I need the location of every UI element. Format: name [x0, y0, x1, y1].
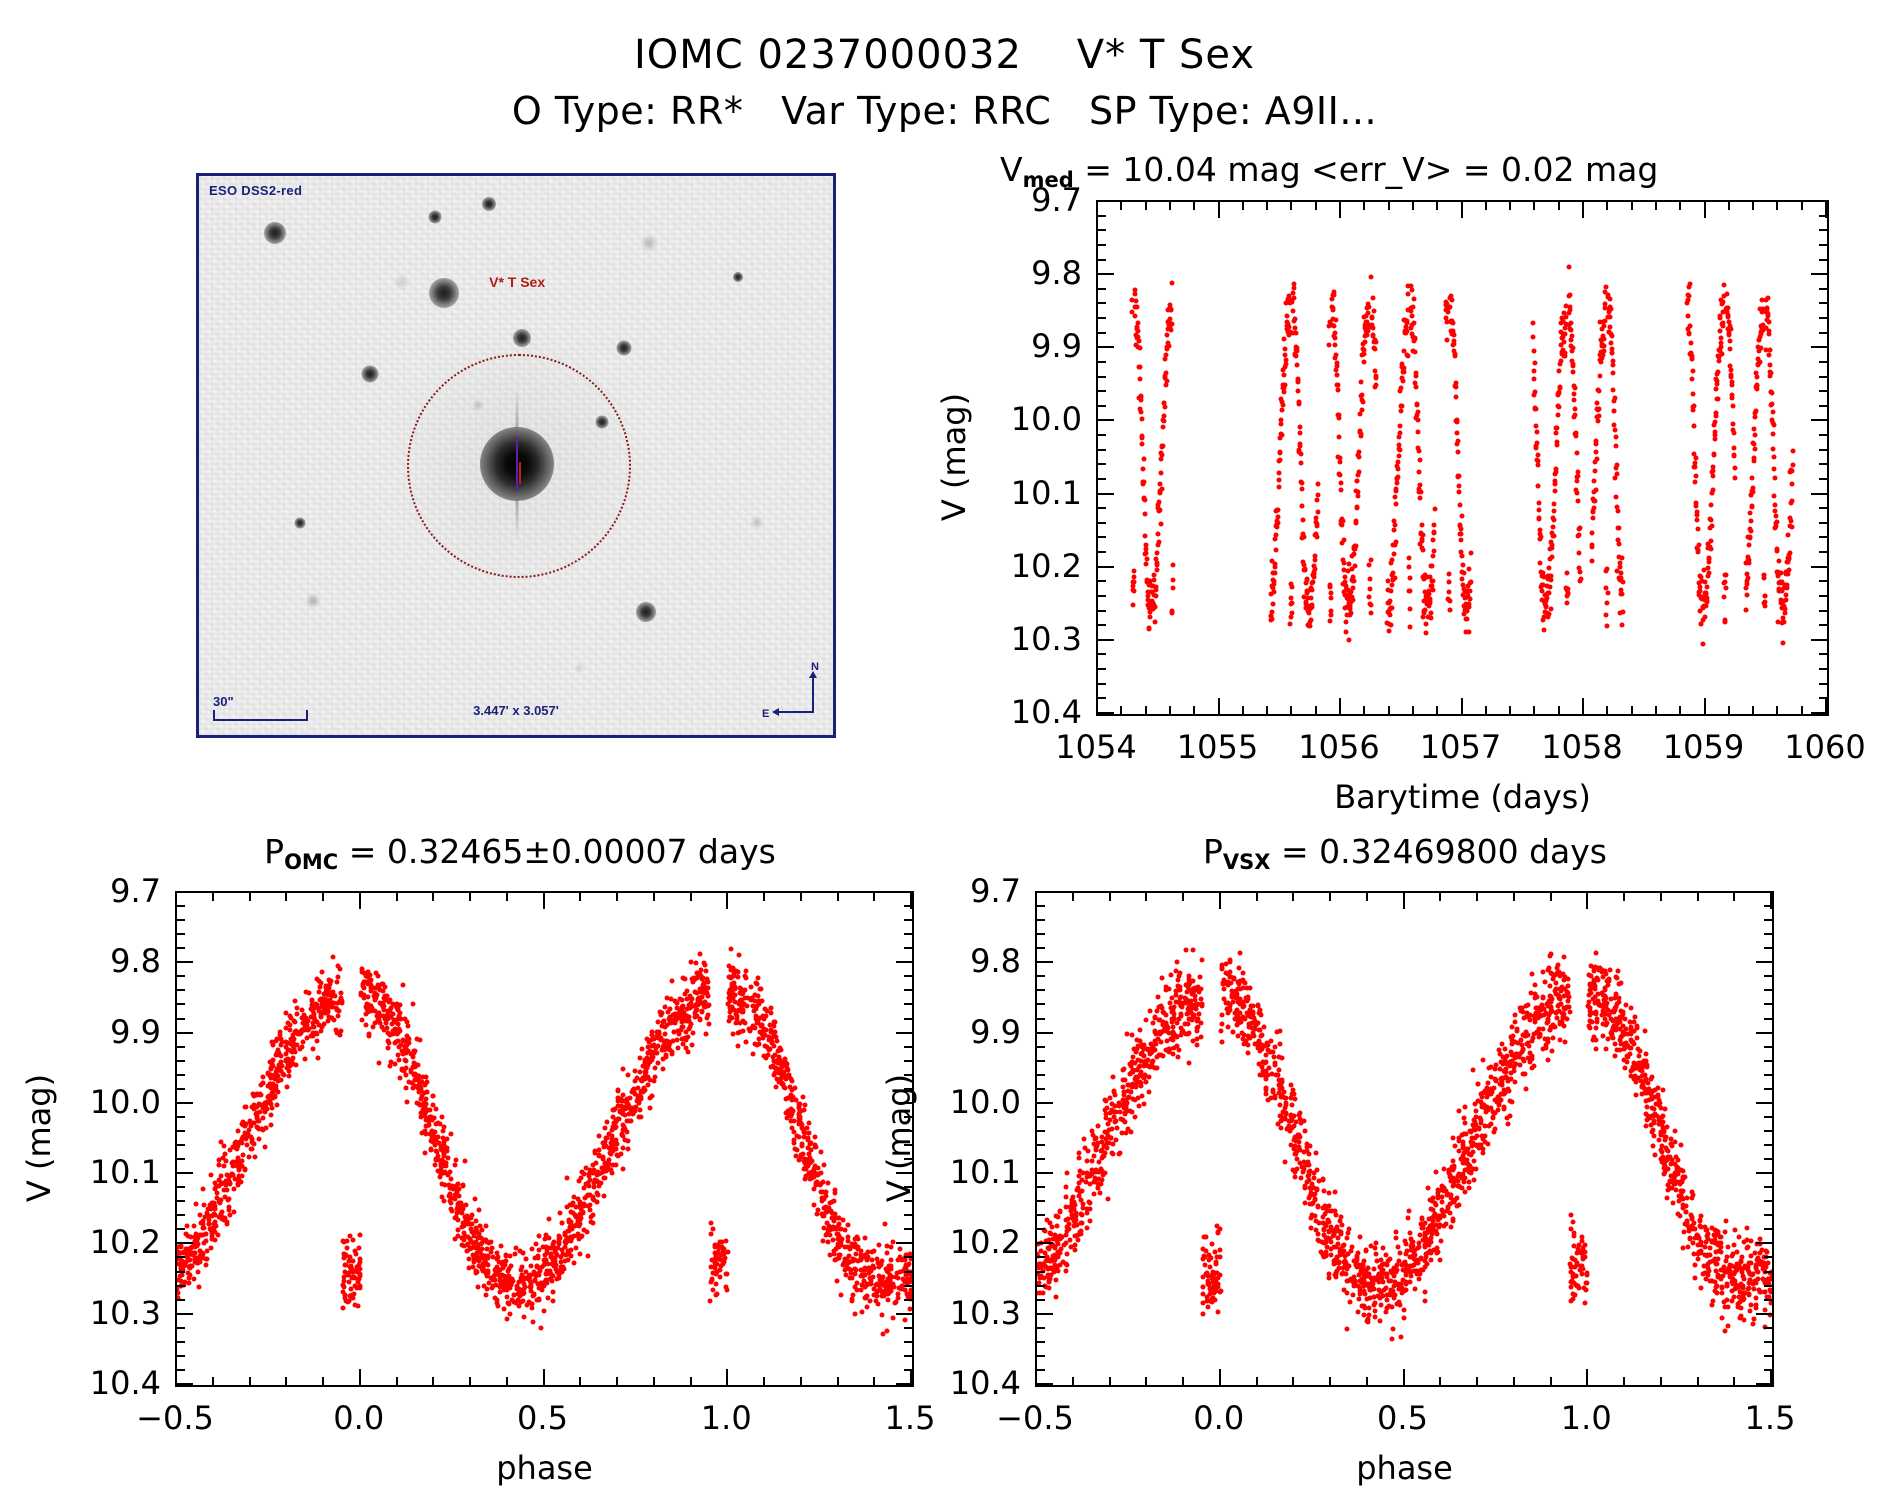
data-point — [1575, 478, 1580, 483]
y-minor-tick — [1096, 463, 1106, 465]
data-point — [528, 1279, 533, 1284]
data-point — [1569, 328, 1574, 333]
data-point — [278, 1053, 283, 1058]
data-point — [1771, 409, 1776, 414]
data-point — [1787, 550, 1792, 555]
data-point — [248, 1119, 253, 1124]
data-point — [528, 1263, 533, 1268]
data-point — [405, 1024, 410, 1029]
data-point — [1774, 514, 1779, 519]
data-point — [1573, 407, 1578, 412]
data-point — [1691, 403, 1696, 408]
data-point — [1622, 1066, 1627, 1071]
data-point — [184, 1223, 189, 1228]
data-point — [228, 1213, 233, 1218]
data-point — [1568, 1284, 1573, 1289]
data-point — [796, 1135, 801, 1140]
data-point — [421, 1090, 426, 1095]
data-point — [449, 1176, 454, 1181]
data-point — [636, 1100, 641, 1105]
data-point — [1565, 592, 1570, 597]
x-minor-tick — [1509, 706, 1511, 716]
data-point — [1771, 455, 1776, 460]
y-minor-tick — [175, 1060, 185, 1062]
data-point — [1282, 372, 1287, 377]
data-point — [1732, 466, 1737, 471]
data-point — [1297, 425, 1302, 430]
x-major-tick — [543, 891, 545, 909]
y-tick-label: 10.1 — [1011, 474, 1082, 512]
data-point — [660, 1048, 665, 1053]
y-major-tick — [1096, 273, 1114, 275]
field-star — [429, 278, 459, 308]
data-point — [196, 1269, 201, 1274]
data-point — [1137, 376, 1142, 381]
data-point — [1620, 579, 1625, 584]
x-minor-tick — [873, 1377, 875, 1387]
lightcurve-y-axis-title: V (mag) — [935, 367, 973, 547]
data-point — [697, 1017, 702, 1022]
y-tick-label: 9.7 — [1031, 181, 1082, 219]
data-point — [1612, 1042, 1617, 1047]
data-point — [843, 1244, 848, 1249]
data-point — [1752, 446, 1757, 451]
data-point — [1612, 395, 1617, 400]
data-point — [1771, 423, 1776, 428]
data-point — [705, 979, 710, 984]
data-point — [1396, 453, 1401, 458]
data-point — [1314, 516, 1319, 521]
data-point — [410, 1086, 415, 1091]
y-major-tick — [1096, 493, 1114, 495]
x-minor-tick — [1655, 706, 1657, 716]
data-point — [888, 1273, 893, 1278]
data-point — [292, 1029, 297, 1034]
data-point — [1770, 431, 1775, 436]
data-point — [762, 1043, 767, 1048]
phase-omc-title: POMC = 0.32465±0.00007 days — [175, 832, 865, 871]
y-minor-tick — [175, 1018, 185, 1020]
data-point — [1314, 534, 1319, 539]
data-point — [1728, 346, 1733, 351]
data-point — [774, 1085, 779, 1090]
data-point — [1767, 352, 1772, 357]
data-point — [1726, 312, 1731, 317]
data-point — [1751, 489, 1756, 494]
data-point — [1459, 531, 1464, 536]
x-minor-tick — [800, 1377, 802, 1387]
data-point — [789, 1093, 794, 1098]
compass-east-axis — [774, 711, 814, 713]
data-point — [855, 1258, 860, 1263]
data-point — [212, 1213, 217, 1218]
data-point — [1147, 627, 1152, 632]
data-point — [684, 1019, 689, 1024]
data-point — [596, 1134, 601, 1139]
data-point — [739, 991, 744, 996]
data-point — [1612, 408, 1617, 413]
y-minor-tick — [175, 1271, 185, 1273]
y-minor-tick — [175, 989, 185, 991]
data-point — [1468, 588, 1473, 593]
y-major-tick — [175, 891, 193, 893]
data-point — [1569, 333, 1574, 338]
data-point — [1437, 1258, 1442, 1263]
data-point — [602, 1126, 607, 1131]
data-point — [1611, 359, 1616, 364]
data-point — [1776, 559, 1781, 564]
data-point — [850, 1276, 855, 1281]
data-point — [472, 1197, 477, 1202]
data-point — [675, 1046, 680, 1051]
x-minor-tick — [1752, 706, 1754, 716]
data-point — [1731, 445, 1736, 450]
y-minor-tick — [175, 933, 185, 935]
data-point — [502, 1275, 507, 1280]
y-major-tick — [175, 1032, 193, 1034]
data-point — [1156, 539, 1161, 544]
data-point — [727, 1015, 732, 1020]
x-minor-tick — [1533, 706, 1535, 716]
x-minor-tick — [249, 891, 251, 901]
x-minor-tick — [1509, 200, 1511, 210]
target-crosshair-secondary — [519, 462, 521, 484]
data-point — [642, 1088, 647, 1093]
data-point — [1469, 551, 1474, 556]
y-minor-tick — [175, 1158, 185, 1160]
data-point — [845, 1222, 850, 1227]
y-minor-tick — [175, 947, 185, 949]
data-point — [530, 1320, 535, 1325]
data-point — [1605, 591, 1610, 596]
data-point — [1750, 503, 1755, 508]
phase-omc-plot: 9.79.89.910.010.110.210.310.4 −0.50.00.5… — [175, 891, 914, 1387]
y-minor-tick — [904, 1256, 914, 1258]
compass-north-axis — [812, 673, 814, 713]
data-point — [787, 1112, 792, 1117]
data-point — [357, 1256, 362, 1261]
data-point — [1336, 416, 1341, 421]
y-minor-tick — [1819, 610, 1829, 612]
data-point — [565, 1228, 570, 1233]
data-point — [782, 1061, 787, 1066]
data-point — [1574, 490, 1579, 495]
data-point — [1573, 413, 1578, 418]
data-point — [1312, 572, 1317, 577]
data-point — [319, 1005, 324, 1010]
y-major-tick — [1811, 419, 1829, 421]
data-point — [1354, 504, 1359, 509]
data-point — [1552, 518, 1557, 523]
data-point — [1186, 1060, 1191, 1065]
data-point — [824, 1204, 829, 1209]
data-point — [605, 1119, 610, 1124]
data-point — [1617, 565, 1622, 570]
data-point — [601, 1194, 606, 1199]
y-minor-tick — [904, 1369, 914, 1371]
data-point — [1790, 468, 1795, 473]
data-point — [1597, 389, 1602, 394]
data-point — [1709, 518, 1714, 523]
y-minor-tick — [1819, 405, 1829, 407]
data-point — [732, 981, 737, 986]
data-point — [1284, 358, 1289, 363]
data-point — [490, 1285, 495, 1290]
data-point — [774, 1038, 779, 1043]
data-point — [832, 1248, 837, 1253]
data-point — [1338, 456, 1343, 461]
data-point — [1619, 591, 1624, 596]
data-point — [302, 1057, 307, 1062]
data-point — [1413, 349, 1418, 354]
data-point — [1388, 599, 1393, 604]
data-point — [463, 1159, 468, 1164]
data-point — [1357, 450, 1362, 455]
data-point — [1085, 1226, 1090, 1231]
y-minor-tick — [175, 1144, 185, 1146]
data-point — [1063, 1269, 1068, 1274]
x-major-tick — [1218, 698, 1220, 716]
data-point — [1725, 291, 1730, 296]
data-point — [1308, 595, 1313, 600]
data-point — [495, 1304, 500, 1309]
data-point — [499, 1243, 504, 1248]
data-point — [1296, 389, 1301, 394]
data-point — [1763, 594, 1768, 599]
data-point — [884, 1244, 889, 1249]
data-point — [541, 1309, 546, 1314]
data-point — [1602, 324, 1607, 329]
y-minor-tick — [1096, 449, 1106, 451]
data-point — [257, 1109, 262, 1114]
data-point — [260, 1115, 265, 1120]
finder-chart: ESO DSS2-red V* T Sex 3.447' x 3.057' 30… — [196, 173, 836, 738]
x-minor-tick — [1752, 200, 1754, 210]
data-point — [1532, 360, 1537, 365]
data-point — [566, 1219, 571, 1224]
data-point — [460, 1236, 465, 1241]
data-point — [1362, 347, 1367, 352]
data-point — [753, 998, 758, 1003]
data-point — [1139, 398, 1144, 403]
data-point — [1594, 438, 1599, 443]
data-point — [537, 1285, 542, 1290]
data-point — [694, 1008, 699, 1013]
data-point — [477, 1207, 482, 1212]
y-tick-label: 9.7 — [110, 872, 161, 910]
data-point — [1611, 387, 1616, 392]
data-point — [539, 1326, 544, 1331]
data-point — [586, 1254, 591, 1259]
data-point — [557, 1210, 562, 1215]
data-point — [1344, 620, 1349, 625]
data-point — [1088, 1219, 1093, 1224]
data-point — [497, 1278, 502, 1283]
data-point — [310, 1046, 315, 1051]
data-point — [215, 1233, 220, 1238]
data-point — [1789, 498, 1794, 503]
data-point — [1134, 299, 1139, 304]
data-point — [1772, 493, 1777, 498]
data-point — [729, 947, 734, 952]
data-point — [1602, 349, 1607, 354]
data-point — [1374, 383, 1379, 388]
y-minor-tick — [904, 989, 914, 991]
data-point — [1276, 507, 1281, 512]
data-point — [505, 1294, 510, 1299]
y-tick-label: 9.9 — [110, 1013, 161, 1051]
data-point — [1468, 580, 1473, 585]
data-point — [583, 1166, 588, 1171]
data-point — [1590, 545, 1595, 550]
field-star — [513, 329, 531, 347]
data-point — [610, 1125, 615, 1130]
y-major-tick — [896, 961, 914, 963]
data-point — [1767, 363, 1772, 368]
x-tick-label: 1057 — [1420, 728, 1501, 766]
data-point — [318, 1013, 323, 1018]
data-point — [1432, 507, 1437, 512]
data-point — [847, 1259, 852, 1264]
data-point — [813, 1163, 818, 1168]
y-minor-tick — [1819, 259, 1829, 261]
data-point — [813, 1135, 818, 1140]
data-point — [1455, 419, 1460, 424]
data-point — [187, 1257, 192, 1262]
data-point — [1574, 451, 1579, 456]
data-point — [338, 1029, 343, 1034]
data-point — [453, 1197, 458, 1202]
data-point — [1569, 320, 1574, 325]
x-minor-tick — [322, 891, 324, 901]
data-point — [846, 1235, 851, 1240]
data-point — [1272, 589, 1277, 594]
data-point — [612, 1106, 617, 1111]
data-point — [790, 1087, 795, 1092]
field-star — [733, 272, 743, 282]
data-point — [843, 1228, 848, 1233]
data-point — [557, 1273, 562, 1278]
data-point — [1593, 950, 1598, 955]
y-minor-tick — [1096, 536, 1106, 538]
data-point — [1575, 474, 1580, 479]
data-point — [1415, 403, 1420, 408]
data-point — [1143, 534, 1148, 539]
data-point — [811, 1202, 816, 1207]
data-point — [1358, 412, 1363, 417]
data-point — [1729, 379, 1734, 384]
data-point — [690, 997, 695, 1002]
data-point — [504, 1316, 509, 1321]
data-point — [222, 1144, 227, 1149]
data-point — [406, 1036, 411, 1041]
phase-vsx-plot: 9.79.89.910.010.110.210.310.4 −0.50.00.5… — [1035, 891, 1774, 1387]
data-point — [456, 1228, 461, 1233]
data-point — [1558, 385, 1563, 390]
data-point — [1417, 483, 1422, 488]
data-point — [1536, 501, 1541, 506]
data-point — [659, 1038, 664, 1043]
data-point — [581, 1186, 586, 1191]
data-point — [1422, 1298, 1427, 1303]
data-point — [1369, 275, 1374, 280]
data-point — [1634, 1092, 1639, 1097]
data-point — [259, 1127, 264, 1132]
data-point — [1413, 1286, 1418, 1291]
data-point — [1552, 501, 1557, 506]
data-point — [431, 1136, 436, 1141]
data-point — [413, 1064, 418, 1069]
data-point — [385, 1012, 390, 1017]
data-point — [1614, 495, 1619, 500]
data-point — [1614, 472, 1619, 477]
data-point — [1389, 1337, 1394, 1342]
x-minor-tick — [506, 1377, 508, 1387]
x-tick-label: 1054 — [1055, 728, 1136, 766]
data-point — [1713, 436, 1718, 441]
data-point — [1276, 485, 1281, 490]
data-point — [216, 1162, 221, 1167]
data-point — [1390, 583, 1395, 588]
data-point — [1551, 525, 1556, 530]
x-minor-tick — [285, 1377, 287, 1387]
data-point — [249, 1140, 254, 1145]
data-point — [654, 1030, 659, 1035]
data-point — [483, 1259, 488, 1264]
data-point — [649, 1029, 654, 1034]
data-point — [1693, 480, 1698, 485]
data-point — [270, 1058, 275, 1063]
x-minor-tick — [506, 891, 508, 901]
data-point — [396, 1028, 401, 1033]
data-point — [1546, 566, 1551, 571]
data-point — [621, 1111, 626, 1116]
x-major-tick — [1096, 698, 1098, 716]
x-minor-tick — [1606, 200, 1608, 210]
data-point — [1537, 528, 1542, 533]
data-point — [1788, 518, 1793, 523]
data-point — [356, 1304, 361, 1309]
y-minor-tick — [175, 1355, 185, 1357]
data-point — [1709, 502, 1714, 507]
data-point — [1133, 314, 1138, 319]
data-point — [718, 1275, 723, 1280]
data-point — [1291, 290, 1296, 295]
data-point — [358, 1286, 363, 1291]
data-point — [1450, 320, 1455, 325]
data-point — [1415, 409, 1420, 414]
data-point — [319, 1028, 324, 1033]
data-point — [626, 1139, 631, 1144]
data-point — [1723, 586, 1728, 591]
data-point — [351, 1258, 356, 1263]
x-tick-label: 1.0 — [701, 1399, 752, 1437]
x-minor-tick — [690, 1377, 692, 1387]
data-point — [288, 1022, 293, 1027]
data-point — [1362, 340, 1367, 345]
data-point — [1576, 498, 1581, 503]
data-point — [402, 1017, 407, 1022]
data-point — [821, 1239, 826, 1244]
y-minor-tick — [175, 1200, 185, 1202]
data-point — [1531, 369, 1536, 374]
data-point — [209, 1172, 214, 1177]
data-point — [574, 1245, 579, 1250]
data-point — [543, 1245, 548, 1250]
data-point — [236, 1159, 241, 1164]
y-minor-tick — [175, 975, 185, 977]
data-point — [1390, 605, 1395, 610]
